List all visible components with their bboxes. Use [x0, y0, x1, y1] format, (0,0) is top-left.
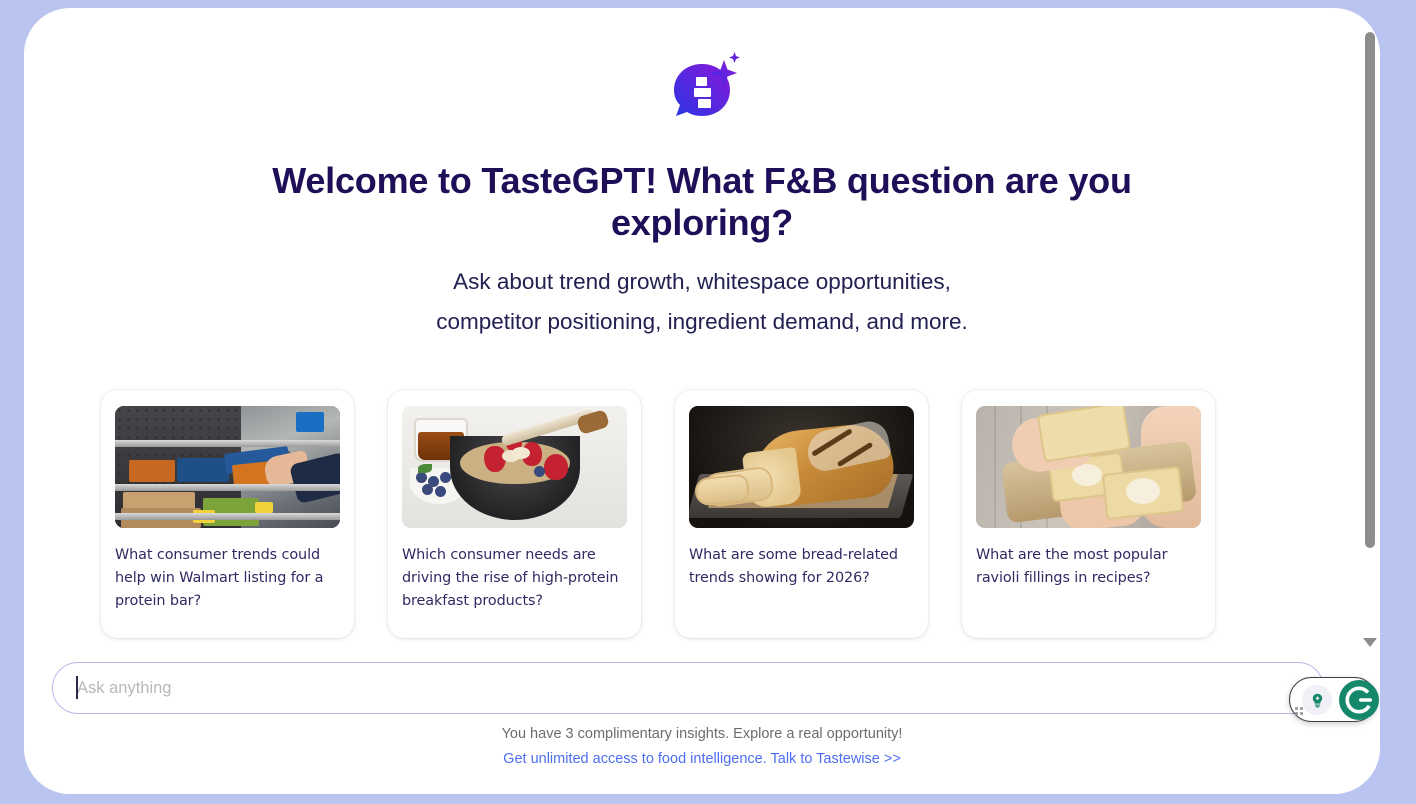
quota-status-text: You have 3 complimentary insights. Explo… [24, 726, 1380, 742]
fresh-ravioli-pasta-photo [976, 406, 1201, 528]
tastegpt-logo [24, 50, 1380, 135]
lightbulb-icon[interactable] [1302, 685, 1332, 715]
grammarly-widget[interactable] [1289, 677, 1377, 722]
page-subtitle: Ask about trend growth, whitespace oppor… [302, 262, 1102, 342]
walmart-shelf-protein-bars-photo [115, 406, 340, 528]
suggestion-card-label: What are the most popular ravioli fillin… [976, 544, 1201, 590]
search-input[interactable] [52, 662, 1324, 714]
suggestion-cards-row: What consumer trends could help win Walm… [24, 390, 1380, 640]
suggestion-card-label: Which consumer needs are driving the ris… [402, 544, 627, 613]
suggestion-card-label: What are some bread-related trends showi… [689, 544, 914, 590]
suggestion-card-label: What consumer trends could help win Walm… [115, 544, 340, 613]
subtitle-line-1: Ask about trend growth, whitespace oppor… [302, 262, 1102, 302]
suggestion-card[interactable]: Which consumer needs are driving the ris… [388, 390, 641, 638]
chevron-down-icon[interactable] [1363, 638, 1377, 647]
subtitle-line-2: competitor positioning, ingredient deman… [302, 302, 1102, 342]
lightbulb-glyph [1309, 692, 1326, 709]
text-caret [76, 676, 78, 699]
drag-dots-icon[interactable] [1295, 707, 1304, 716]
composer-region: You have 3 complimentary insights. Explo… [24, 646, 1380, 794]
suggestion-card[interactable]: What are some bread-related trends showi… [675, 390, 928, 638]
page-title: Welcome to TasteGPT! What F&B question a… [252, 160, 1152, 244]
app-window: Welcome to TasteGPT! What F&B question a… [24, 8, 1380, 794]
grammarly-g-icon[interactable] [1335, 676, 1380, 724]
suggestion-card[interactable]: What consumer trends could help win Walm… [101, 390, 354, 638]
sourdough-bread-loaf-photo [689, 406, 914, 528]
suggestion-card[interactable]: What are the most popular ravioli fillin… [962, 390, 1215, 638]
content-scroll-area[interactable]: Welcome to TasteGPT! What F&B question a… [24, 8, 1380, 648]
chat-bubble-sparkle-icon [662, 50, 742, 130]
oatmeal-berry-bowl-photo [402, 406, 627, 528]
scrollbar-thumb[interactable] [1365, 32, 1375, 548]
upsell-link[interactable]: Get unlimited access to food intelligenc… [24, 751, 1380, 767]
